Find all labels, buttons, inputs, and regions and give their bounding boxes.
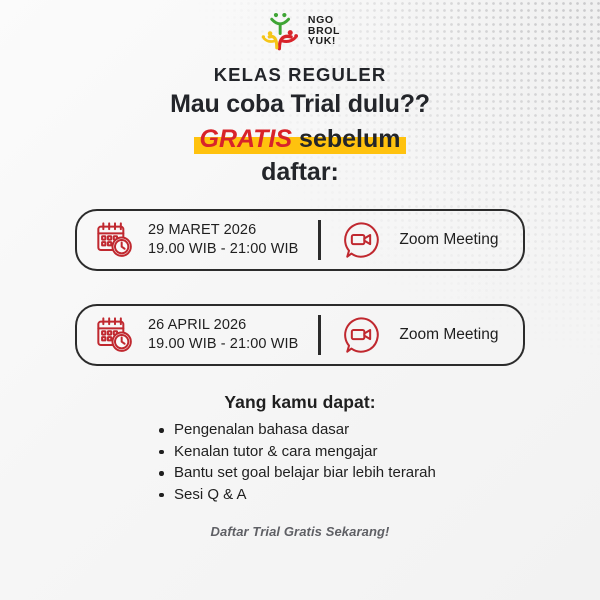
card-divider <box>318 315 321 355</box>
session-card[interactable]: 29 MARET 2026 19.00 WIB - 21:00 WIB Zoom… <box>75 209 525 271</box>
calendar-clock-icon <box>95 315 135 355</box>
session-datetime: 29 MARET 2026 19.00 WIB - 21:00 WIB <box>148 221 298 259</box>
headline-line-1: Mau coba Trial dulu?? <box>0 90 600 119</box>
headline-line-3: daftar: <box>0 158 600 187</box>
promo-poster: NGO BROL YUK! KELAS REGULER Mau coba Tri… <box>0 0 600 600</box>
session-platform-label: Zoom Meeting <box>399 231 498 249</box>
gratis-word: GRATIS <box>200 125 293 153</box>
session-time: 19.00 WIB - 21:00 WIB <box>148 335 298 354</box>
session-date: 26 APRIL 2026 <box>148 316 298 335</box>
card-divider <box>318 220 321 260</box>
headline-line-2: GRATIS sebelum <box>0 124 600 154</box>
list-item: Pengenalan bahasa dasar <box>158 419 436 441</box>
benefits-list: Pengenalan bahasa dasar Kenalan tutor & … <box>158 419 436 505</box>
benefits-title: Yang kamu dapat: <box>0 392 600 413</box>
session-card[interactable]: 26 APRIL 2026 19.00 WIB - 21:00 WIB Zoom… <box>75 304 525 366</box>
eyebrow-heading: KELAS REGULER <box>0 64 600 86</box>
brand-logo: NGO BROL YUK! <box>0 10 600 52</box>
video-chat-bubble-icon <box>341 315 381 355</box>
session-time: 19.00 WIB - 21:00 WIB <box>148 240 298 259</box>
list-item: Sesi Q & A <box>158 484 436 506</box>
headline-line-2-rest: sebelum <box>292 125 400 153</box>
session-platform-label: Zoom Meeting <box>399 326 498 344</box>
ngobrol-yuk-people-logo-icon <box>260 10 302 52</box>
brand-line-3: YUK! <box>308 36 340 47</box>
brand-wordmark: NGO BROL YUK! <box>308 15 340 47</box>
footer-cta-text: Daftar Trial Gratis Sekarang! <box>0 524 600 539</box>
session-datetime: 26 APRIL 2026 19.00 WIB - 21:00 WIB <box>148 316 298 354</box>
session-date: 29 MARET 2026 <box>148 221 298 240</box>
calendar-clock-icon <box>95 220 135 260</box>
video-chat-bubble-icon <box>341 220 381 260</box>
list-item: Bantu set goal belajar biar lebih terara… <box>158 462 436 484</box>
list-item: Kenalan tutor & cara mengajar <box>158 441 436 463</box>
